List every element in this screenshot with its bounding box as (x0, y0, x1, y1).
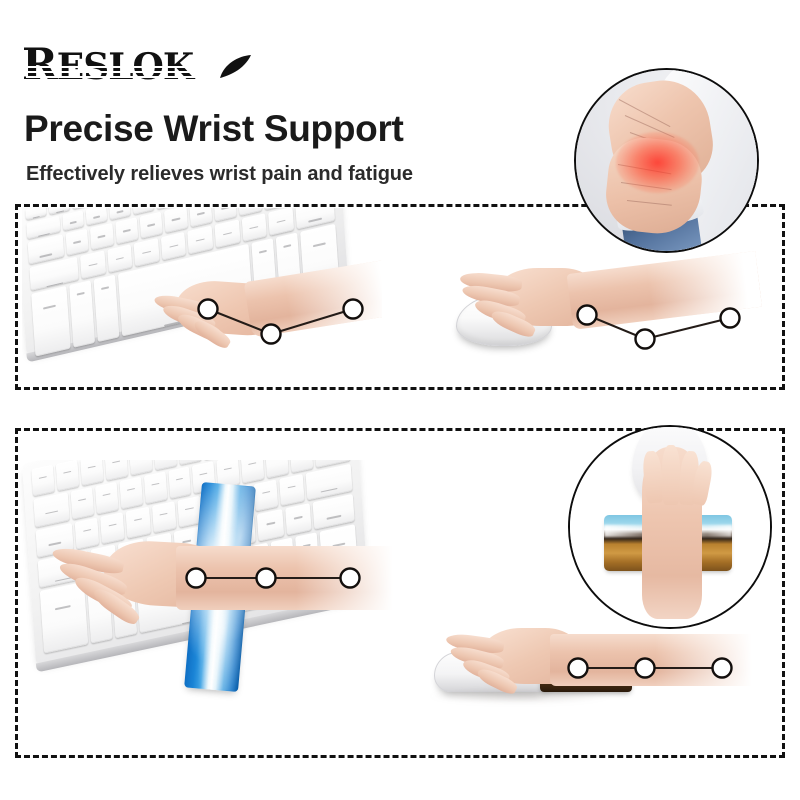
posture-marker (341, 569, 360, 588)
posture-marker (187, 569, 206, 588)
posture-marker (569, 659, 588, 678)
page-subtitle: Effectively relieves wrist pain and fati… (26, 163, 413, 186)
scene-mouse-no-rest (440, 250, 785, 380)
inset-mouse-wrist-rest (568, 425, 772, 629)
leaf-flourish-icon (218, 54, 252, 80)
posture-line-bent (440, 250, 785, 380)
product-infographic: Reslok Precise Wrist Support Effectively… (0, 0, 800, 800)
brand-logo-text: Reslok (22, 30, 193, 90)
posture-marker (721, 309, 740, 328)
posture-line-bent (22, 208, 382, 388)
posture-marker (636, 659, 655, 678)
posture-marker (344, 300, 363, 319)
scene-keyboard-blue-rest (18, 460, 418, 710)
posture-marker (636, 330, 655, 349)
brand-logo: Reslok (22, 30, 292, 92)
posture-marker (262, 325, 281, 344)
posture-marker (199, 300, 218, 319)
posture-marker (257, 569, 276, 588)
page-title: Precise Wrist Support (24, 108, 404, 150)
posture-marker (713, 659, 732, 678)
inset-wrist-pain (574, 68, 759, 253)
posture-marker (578, 306, 597, 325)
scene-keyboard-no-rest (22, 208, 382, 388)
pain-glow-indicator (616, 132, 699, 194)
posture-line-straight (18, 460, 418, 710)
